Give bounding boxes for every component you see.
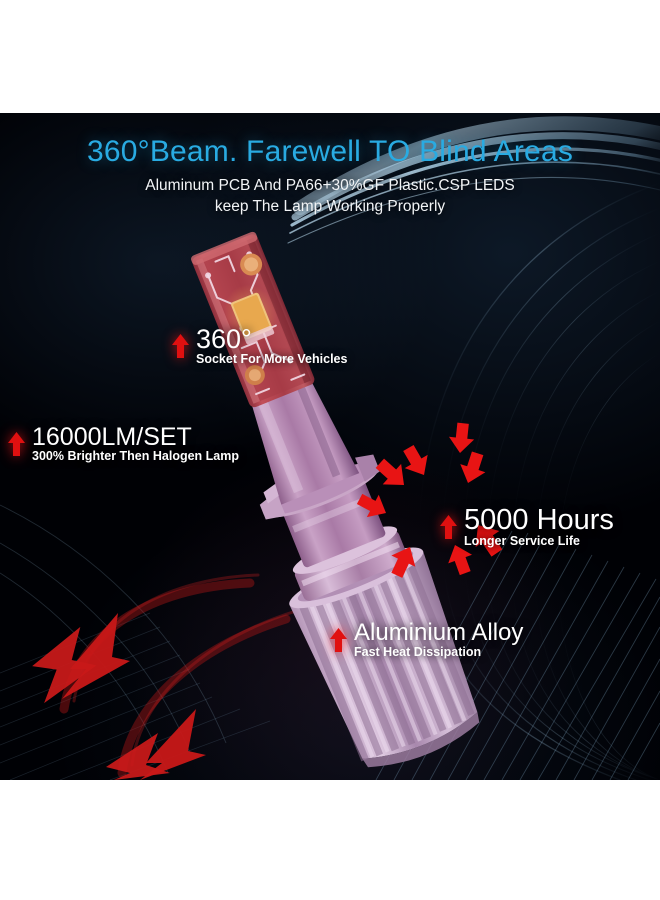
callout-material: Aluminium Alloy Fast Heat Dissipation [330,621,523,659]
dark-art-panel: 360°Beam. Farewell TO Blind Areas Alumin… [0,113,660,780]
callout-headline: 360° [196,325,347,353]
callout-beam-angle: 360° Socket For More Vehicles [172,325,347,366]
page-title: 360°Beam. Farewell TO Blind Areas [0,135,660,169]
callout-caption: Socket For More Vehicles [196,353,347,366]
up-arrow-icon [172,334,189,358]
up-arrow-icon [440,515,457,539]
product-feature-image: 360°Beam. Farewell TO Blind Areas Alumin… [0,0,660,900]
callout-caption: Longer Service Life [464,535,614,548]
callout-headline: 16000LM/SET [32,424,239,450]
callout-lifespan: 5000 Hours Longer Service Life [440,505,614,548]
up-arrow-icon [8,432,25,456]
callout-headline: 5000 Hours [464,505,614,535]
callout-lumens: 16000LM/SET 300% Brighter Then Halogen L… [8,424,239,463]
callout-caption: Fast Heat Dissipation [354,646,523,659]
up-arrow-icon [330,628,347,652]
callout-caption: 300% Brighter Then Halogen Lamp [32,450,239,463]
callout-headline: Aluminium Alloy [354,621,523,646]
subtitle-line-2: keep The Lamp Working Properly [0,196,660,217]
page-subtitle: Aluminum PCB And PA66+30%GF Plastic.CSP … [0,175,660,217]
subtitle-line-1: Aluminum PCB And PA66+30%GF Plastic.CSP … [0,175,660,196]
